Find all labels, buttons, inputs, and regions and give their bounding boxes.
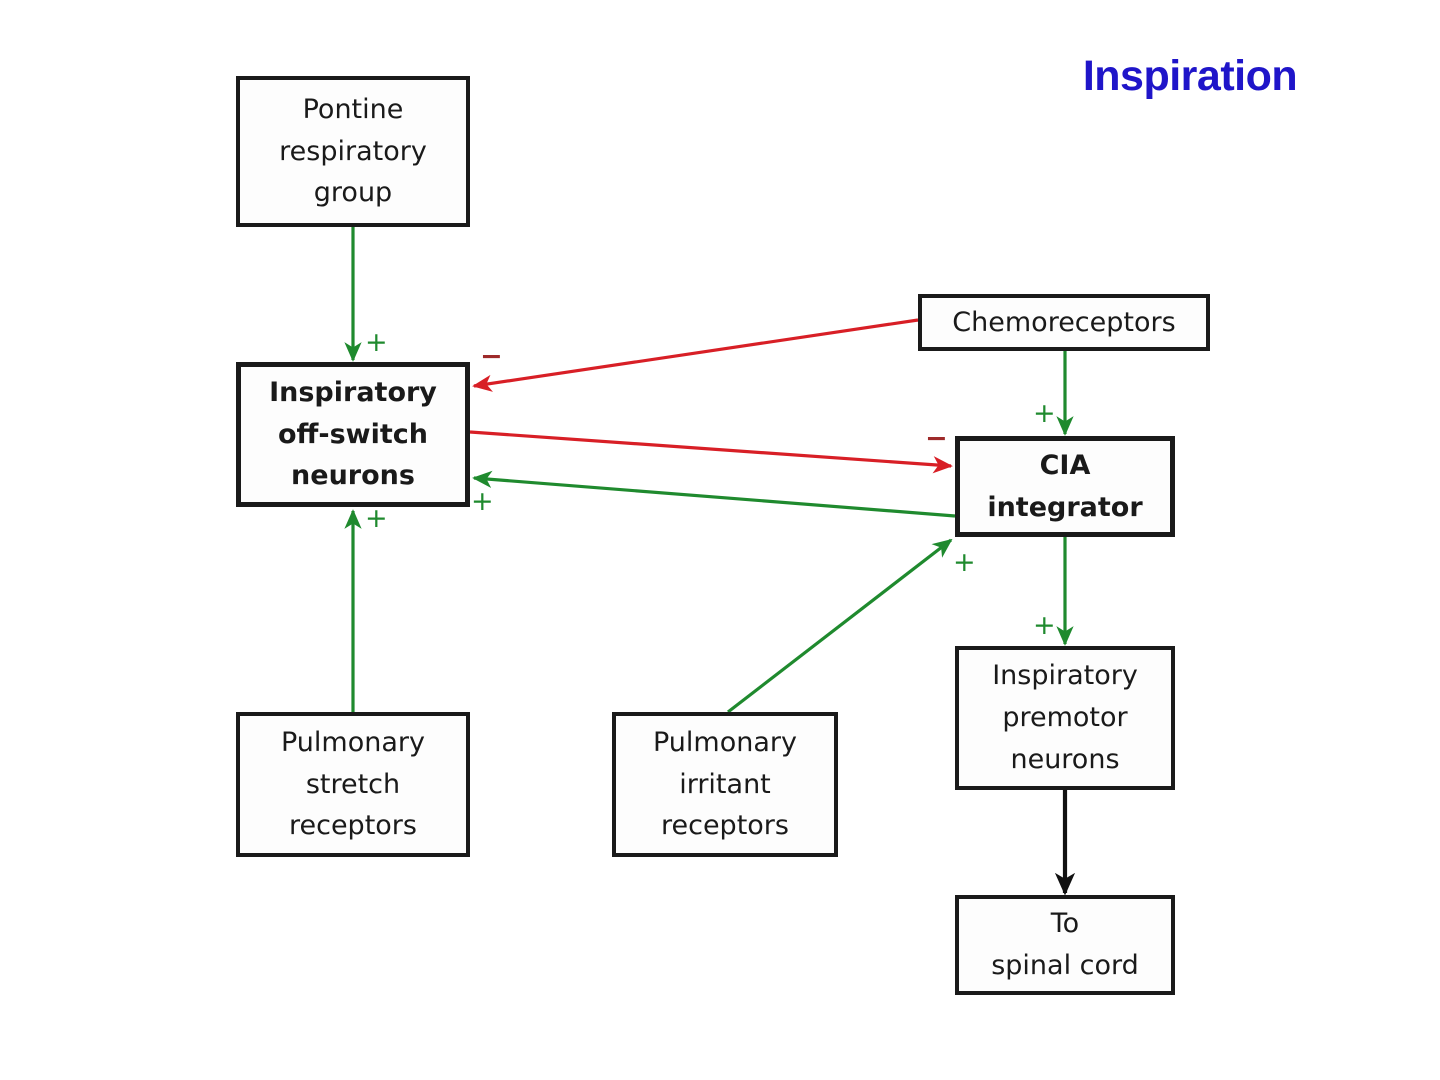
sign-stretch-to-offswitch: + [365, 505, 388, 532]
diagram-canvas: Inspiration PontinerespiratorygroupInspi… [0, 0, 1440, 1080]
node-label-stretch: Pulmonarystretchreceptors [281, 722, 425, 848]
node-label-cia: CIAintegrator [987, 445, 1142, 529]
node-label-pontine: Pontinerespiratorygroup [279, 89, 427, 215]
node-chemoreceptors: Chemoreceptors [918, 294, 1210, 351]
sign-chemo-to-cia: + [1033, 400, 1056, 427]
sign-offswitch-to-cia: − [925, 425, 948, 452]
node-pontine: Pontinerespiratorygroup [236, 76, 470, 227]
node-irritant: Pulmonaryirritantreceptors [612, 712, 838, 857]
edge-offswitch-to-cia [470, 432, 951, 466]
sign-pontine-to-offswitch: + [365, 329, 388, 356]
sign-irritant-to-cia: + [953, 549, 976, 576]
edge-chemo-to-offswitch [474, 320, 918, 386]
node-cia: CIAintegrator [955, 436, 1175, 537]
node-label-off_switch: Inspiratoryoff-switchneurons [269, 372, 437, 498]
sign-cia-to-offswitch: + [471, 488, 494, 515]
node-label-premotor: Inspiratorypremotorneurons [992, 655, 1138, 781]
node-stretch: Pulmonarystretchreceptors [236, 712, 470, 857]
node-label-spinal: Tospinal cord [991, 903, 1139, 987]
node-label-irritant: Pulmonaryirritantreceptors [653, 722, 797, 848]
edge-irritant-to-cia [728, 540, 951, 712]
edge-layer [0, 0, 1440, 1080]
node-label-chemoreceptors: Chemoreceptors [952, 302, 1175, 344]
node-off_switch: Inspiratoryoff-switchneurons [236, 362, 470, 507]
node-premotor: Inspiratorypremotorneurons [955, 646, 1175, 790]
sign-cia-to-premotor: + [1033, 612, 1056, 639]
edge-cia-to-offswitch [474, 478, 955, 516]
node-spinal: Tospinal cord [955, 895, 1175, 995]
sign-chemo-to-offswitch: − [480, 343, 503, 370]
